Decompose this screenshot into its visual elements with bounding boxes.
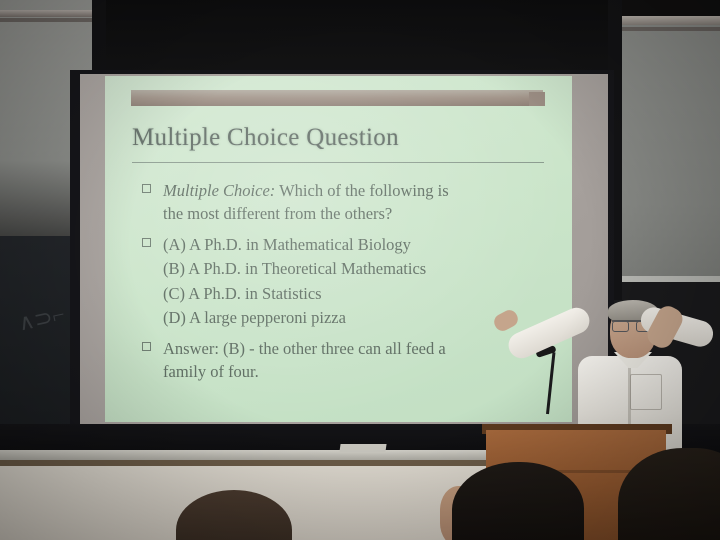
right-wall-trim-shadow (612, 27, 720, 31)
right-wall-panel (612, 22, 720, 280)
slide-bullet-list: Multiple Choice: Which of the following … (139, 172, 551, 383)
slide-title: Multiple Choice Question (132, 124, 552, 152)
bullet-continuation: family of four. (163, 360, 551, 383)
list-item: (A) A Ph.D. in Mathematical Biology (139, 233, 551, 256)
list-item: Multiple Choice: Which of the following … (139, 179, 551, 226)
square-bullet-icon (142, 238, 151, 247)
bullet-text: Answer: (B) - the other three can all fe… (163, 339, 446, 358)
list-item: (D) A large pepperoni pizza (139, 306, 551, 329)
bullet-text: (D) A large pepperoni pizza (163, 308, 346, 327)
bullet-text: (A) A Ph.D. in Mathematical Biology (163, 235, 411, 254)
glasses-left-lens (612, 321, 629, 332)
bullet-lead-italic: Multiple Choice: (163, 181, 275, 200)
square-bullet-icon (142, 342, 151, 351)
left-wall-trim-shadow (0, 18, 96, 22)
chalk-mark: ∧⊃⌐ (16, 301, 67, 336)
slide-header-band (131, 90, 543, 106)
list-item: Answer: (B) - the other three can all fe… (139, 337, 551, 384)
square-bullet-icon (142, 184, 151, 193)
bullet-text: (B) A Ph.D. in Theoretical Mathematics (163, 259, 426, 278)
list-item: (C) A Ph.D. in Statistics (139, 282, 551, 305)
slide-header-band-tip (529, 92, 545, 106)
projected-slide: Multiple Choice Question Multiple Choice… (105, 76, 572, 422)
list-item: (B) A Ph.D. in Theoretical Mathematics (139, 257, 551, 280)
slide-title-rule (132, 162, 544, 163)
bullet-text: Which of the following is (275, 181, 448, 200)
lecture-hall-photo: ∧⊃⌐ Multiple Choice Question Multiple Ch… (0, 0, 720, 540)
bullet-continuation: the most different from the others? (163, 202, 551, 225)
left-wall-trim (0, 10, 96, 17)
right-wall-trim (612, 16, 720, 25)
bullet-text: (C) A Ph.D. in Statistics (163, 284, 322, 303)
ceiling-dark-area (96, 0, 616, 76)
shirt-pocket (630, 374, 662, 410)
eraser (339, 444, 386, 452)
